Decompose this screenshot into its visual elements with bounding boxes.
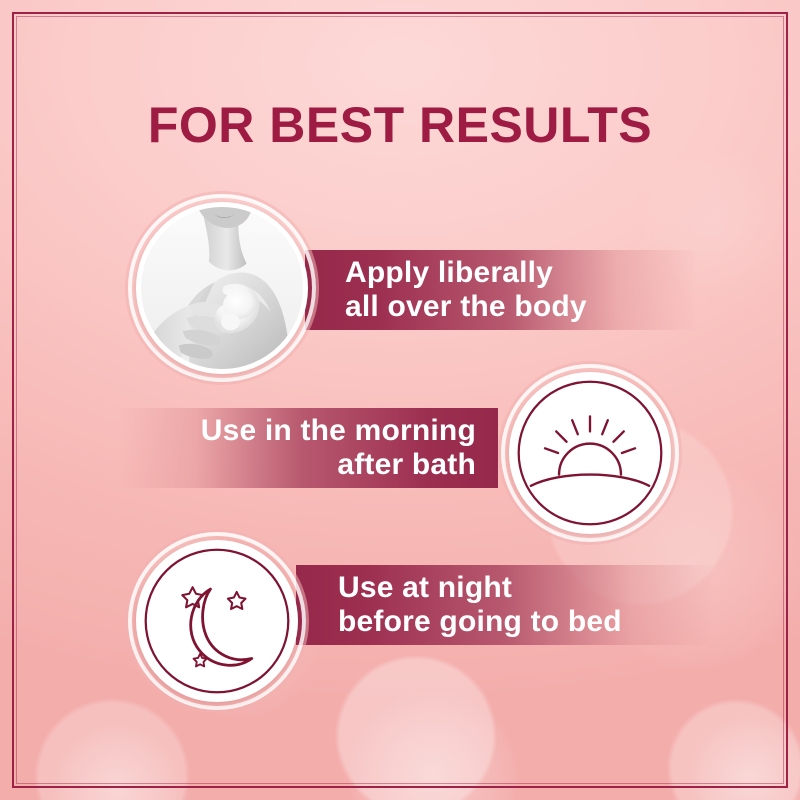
- step-morning-text: Use in the morning after bath: [201, 414, 476, 482]
- step-night-text: Use at night before going to bed: [338, 571, 622, 639]
- page-title: FOR BEST RESULTS: [0, 96, 800, 154]
- step-morning-banner: Use in the morning after bath: [120, 408, 498, 488]
- step-morning-icon-circle: [497, 360, 683, 546]
- step-apply-banner: Apply liberally all over the body: [305, 250, 695, 330]
- crescent-moon-stars-icon: [136, 540, 298, 702]
- bokeh-circle: [348, 690, 518, 800]
- bokeh-circle: [690, 718, 800, 800]
- step-apply-icon-circle: [124, 190, 320, 386]
- woman-applying-cream-photo: [136, 202, 308, 374]
- step-night-icon-circle: [124, 528, 310, 714]
- step-apply-text: Apply liberally all over the body: [345, 256, 587, 324]
- sunrise-icon: [509, 372, 671, 534]
- bokeh-circle: [52, 724, 182, 800]
- step-night-banner: Use at night before going to bed: [296, 565, 714, 645]
- poster-canvas: FOR BEST RESULTS Apply liberally all ove…: [0, 0, 800, 800]
